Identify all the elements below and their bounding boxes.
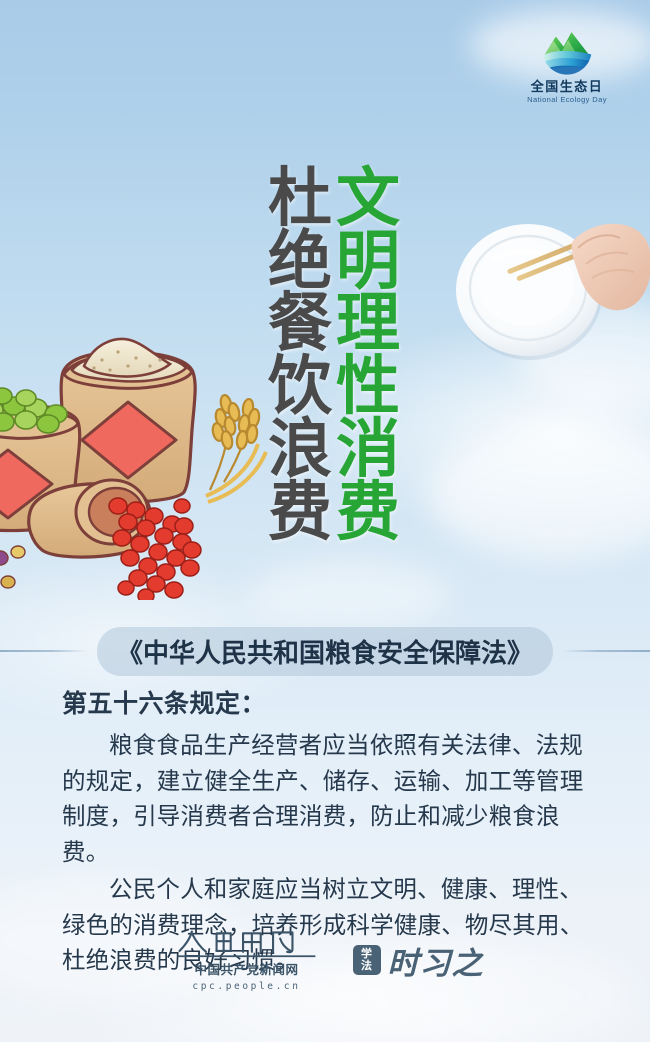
poster-headline: 杜 绝 餐 饮 浪 费 文 明 理 性 消 费 xyxy=(268,168,400,544)
law-paragraph: 粮食食品生产经营者应当依照有关法律、法规的规定，建立健全生产、储存、运输、加工等… xyxy=(62,728,592,871)
headline-right-char: 明 xyxy=(336,231,400,294)
clause-heading: 第五十六条规定： xyxy=(62,684,592,720)
mountain-water-emblem-icon xyxy=(539,22,595,78)
headline-left-char: 费 xyxy=(268,482,332,545)
people-cn-subtitle: 中国共产党新闻网 xyxy=(167,959,327,978)
xuefa-badge: 学 法 xyxy=(353,945,381,975)
xuefa-shixizhi-logo: 学 法 时习之 xyxy=(353,938,484,983)
grain-sacks-illustration xyxy=(0,300,278,600)
headline-left-char: 饮 xyxy=(268,356,332,419)
headline-left-char: 浪 xyxy=(268,419,332,482)
national-ecology-day-logo: 全国生态日 National Ecology Day xyxy=(512,22,622,105)
logo-title-cn: 全国生态日 xyxy=(512,80,622,94)
headline-left-char: 绝 xyxy=(268,231,332,294)
headline-left-column: 杜 绝 餐 饮 浪 费 xyxy=(268,168,332,544)
people-cn-url: cpc.people.cn xyxy=(167,981,327,992)
cloud-decoration xyxy=(430,430,650,560)
shixizhi-text: 时习之 xyxy=(388,938,484,983)
people-cn-wordmark-icon xyxy=(176,928,317,958)
headline-right-char: 理 xyxy=(336,293,400,356)
grain-sacks-icon xyxy=(0,300,278,600)
headline-right-char: 性 xyxy=(336,356,400,419)
band-divider-left xyxy=(0,650,87,652)
plate-illustration-icon xyxy=(452,190,650,390)
band-divider-right xyxy=(563,650,650,652)
cloud-decoration xyxy=(250,560,450,630)
footer-logos: 中国共产党新闻网 cpc.people.cn 学 法 时习之 xyxy=(0,928,650,992)
headline-left-char: 杜 xyxy=(268,168,332,231)
headline-right-char: 费 xyxy=(336,482,400,545)
headline-left-char: 餐 xyxy=(268,293,332,356)
xuefa-badge-line2: 法 xyxy=(357,960,377,972)
headline-right-column: 文 明 理 性 消 费 xyxy=(336,168,400,544)
poster-canvas: 全国生态日 National Ecology Day xyxy=(0,0,650,1042)
empty-plate-with-chopsticks xyxy=(452,190,650,390)
law-title-band: 《中华人民共和国粮食安全保障法》 xyxy=(0,628,650,674)
headline-right-char: 消 xyxy=(336,419,400,482)
people-cn-logo: 中国共产党新闻网 cpc.people.cn xyxy=(167,928,327,992)
headline-right-char: 文 xyxy=(336,168,400,231)
logo-title-en: National Ecology Day xyxy=(512,96,622,104)
law-title: 《中华人民共和国粮食安全保障法》 xyxy=(97,627,553,676)
